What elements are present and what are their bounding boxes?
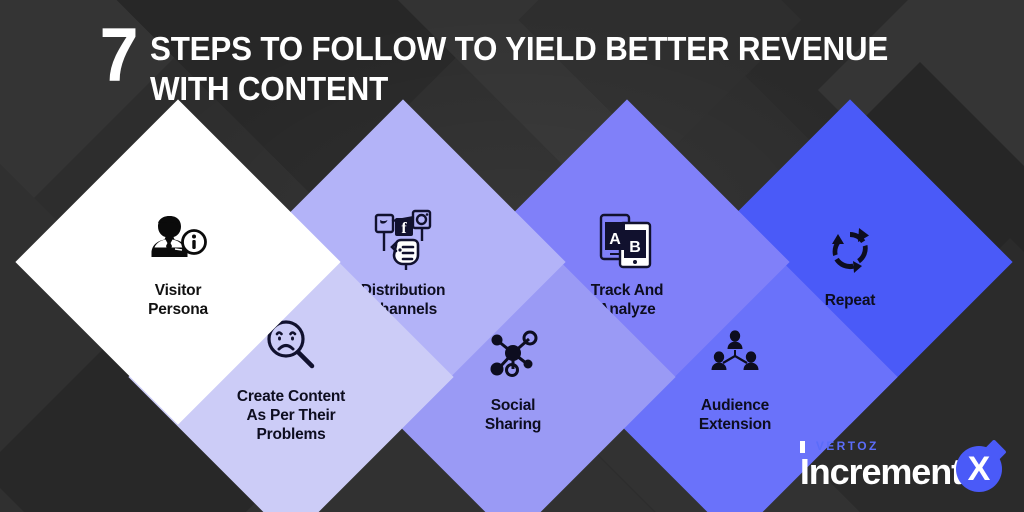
step-6-label: Audience Extension <box>699 396 771 434</box>
brand-logo[interactable]: VERTOZ Increment X <box>800 439 1002 490</box>
step-4-label: Social Sharing <box>485 396 541 434</box>
logo-increment-text: Increment <box>800 454 962 490</box>
step-1-label: Visitor Persona <box>148 281 208 319</box>
logo-x-letter: X <box>968 452 991 486</box>
title-lines: STEPS TO FOLLOW TO YIELD BETTER REVENUE … <box>150 22 888 109</box>
svg-text:A: A <box>609 231 621 248</box>
svg-text:B: B <box>629 239 641 256</box>
title-line-2: WITH CONTENT <box>150 69 888 109</box>
step-count-number: 7 <box>100 22 137 90</box>
title-line-1: STEPS TO FOLLOW TO YIELD BETTER REVENUE <box>150 29 888 69</box>
person-info-icon <box>140 205 216 275</box>
page-title: 7 STEPS TO FOLLOW TO YIELD BETTER REVENU… <box>98 22 958 109</box>
svg-text:f: f <box>401 220 407 237</box>
step-1-visitor-persona[interactable]: Visitor Persona <box>63 147 293 377</box>
step-2-label: Create Content As Per Their Problems <box>237 387 345 444</box>
logo-x-badge: X <box>956 446 1002 492</box>
